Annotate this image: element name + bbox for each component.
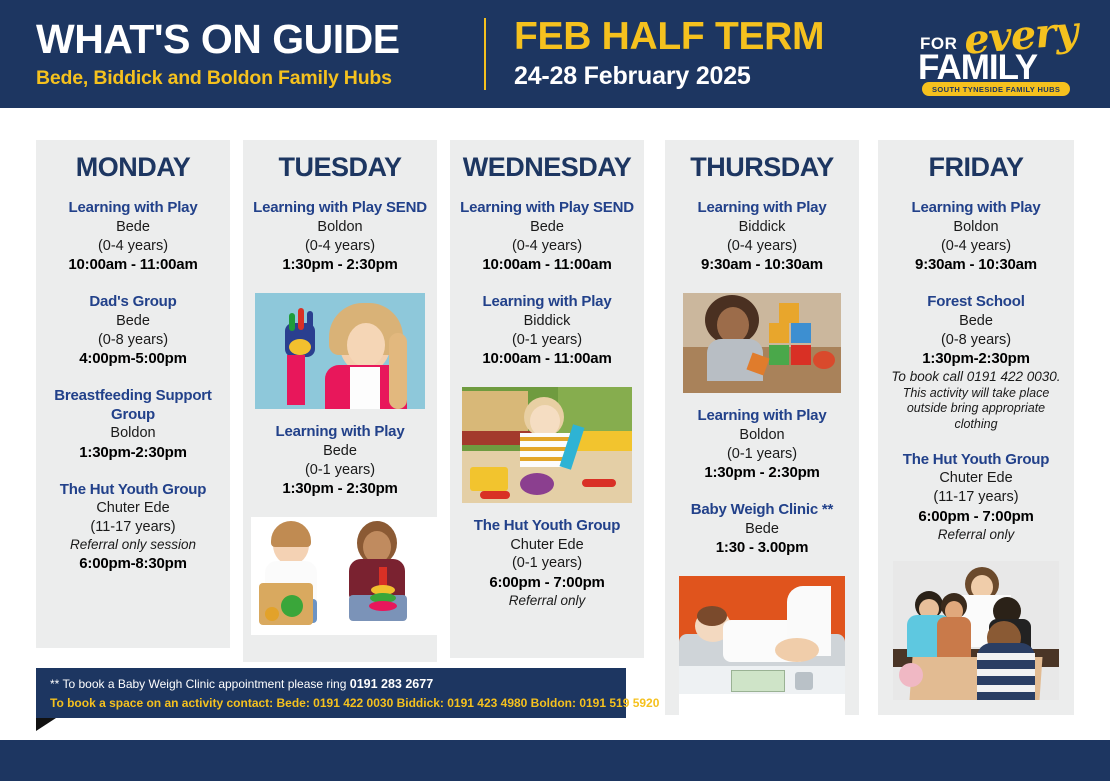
header-divider	[484, 18, 486, 90]
activity-name: Dad's Group	[44, 293, 222, 312]
activity-time: 1:30pm - 2:30pm	[251, 479, 429, 499]
term-title: FEB HALF TERM	[514, 17, 894, 58]
for-every-family-logo: FOR every FAMILY SOUTH TYNESIDE FAMILY H…	[918, 12, 1088, 98]
activity-name: Baby Weigh Clinic **	[673, 501, 851, 520]
baby-weigh-booking-text: ** To book a Baby Weigh Clinic appointme…	[50, 677, 350, 691]
activity-name: Learning with Play SEND	[251, 199, 429, 218]
photo-baby-scales	[679, 576, 845, 715]
day-column-thursday: THURSDAY Learning with Play Biddick (0-4…	[665, 140, 859, 715]
activity-name: Learning with Play	[458, 293, 636, 312]
activity-age: (0-4 years)	[458, 237, 636, 256]
day-title-monday: MONDAY	[44, 152, 222, 183]
activity-time: 9:30am - 10:30am	[886, 255, 1066, 275]
day-title-thursday: THURSDAY	[673, 152, 851, 183]
activity-time: 4:00pm-5:00pm	[44, 349, 222, 369]
photo-children-table-activity	[893, 561, 1059, 700]
footer-fold-decoration	[36, 718, 56, 731]
activity-venue: Biddick	[673, 218, 851, 237]
activity-name: Learning with Play SEND	[458, 199, 636, 218]
activity-time: 1:30pm - 2:30pm	[673, 463, 851, 483]
activity-item: Dad's Group Bede (0-8 years) 4:00pm-5:00…	[44, 293, 222, 369]
activity-time: 10:00am - 11:00am	[458, 349, 636, 369]
activity-age: (0-8 years)	[886, 331, 1066, 350]
page-bottom-bar	[0, 740, 1110, 781]
activity-age: (0-1 years)	[673, 445, 851, 464]
activity-age: (11-17 years)	[44, 518, 222, 537]
activity-age: (11-17 years)	[886, 488, 1066, 507]
activity-item: Baby Weigh Clinic ** Bede 1:30 - 3.00pm	[673, 501, 851, 558]
activity-age: (0-4 years)	[251, 237, 429, 256]
day-column-wednesday: WEDNESDAY Learning with Play SEND Bede (…	[450, 140, 644, 658]
activity-item: Learning with Play Boldon (0-1 years) 1:…	[673, 407, 851, 483]
activity-item: The Hut Youth Group Chuter Ede (11-17 ye…	[44, 481, 222, 574]
activity-venue: Bede	[44, 312, 222, 331]
activity-name: The Hut Youth Group	[886, 451, 1066, 470]
day-column-friday: FRIDAY Learning with Play Boldon (0-4 ye…	[878, 140, 1074, 715]
activity-note: Referral only	[458, 593, 636, 610]
activity-venue: Chuter Ede	[458, 536, 636, 555]
activity-item: Learning with Play Biddick (0-4 years) 9…	[673, 199, 851, 275]
day-title-wednesday: WEDNESDAY	[458, 152, 636, 183]
activity-name: Learning with Play	[44, 199, 222, 218]
logo-badge-text: SOUTH TYNESIDE FAMILY HUBS	[922, 82, 1070, 96]
activity-clothing-note: This activity will take place outside br…	[886, 386, 1066, 433]
activity-venue: Bede	[251, 442, 429, 461]
photo-toddler-sandpit	[462, 387, 632, 503]
activity-time: 1:30 - 3.00pm	[673, 538, 851, 558]
activity-venue: Boldon	[673, 426, 851, 445]
activity-venue: Boldon	[886, 218, 1066, 237]
activity-name: Learning with Play	[673, 407, 851, 426]
activity-note: Referral only session	[44, 537, 222, 554]
header-title-block: WHAT'S ON GUIDE Bede, Biddick and Boldon…	[0, 18, 478, 90]
activity-name: Learning with Play	[886, 199, 1066, 218]
activity-venue: Chuter Ede	[44, 499, 222, 518]
activity-item: Learning with Play SEND Bede (0-4 years)…	[458, 199, 636, 275]
activity-time: 6:00pm-8:30pm	[44, 554, 222, 574]
activity-name: The Hut Youth Group	[44, 481, 222, 500]
activity-time: 6:00pm - 7:00pm	[886, 507, 1066, 527]
header-term-block: FEB HALF TERM 24-28 February 2025	[514, 17, 894, 91]
booking-info-box: ** To book a Baby Weigh Clinic appointme…	[36, 668, 626, 718]
term-dates: 24-28 February 2025	[514, 62, 894, 91]
page-header: WHAT'S ON GUIDE Bede, Biddick and Boldon…	[0, 0, 1110, 108]
activity-venue: Boldon	[251, 218, 429, 237]
activity-item: Learning with Play Bede (0-1 years) 1:30…	[251, 423, 429, 499]
activity-item: Learning with Play SEND Boldon (0-4 year…	[251, 199, 429, 275]
baby-weigh-booking-line: ** To book a Baby Weigh Clinic appointme…	[50, 675, 626, 694]
activity-time: 1:30pm-2:30pm	[44, 443, 222, 463]
activity-time: 9:30am - 10:30am	[673, 255, 851, 275]
activity-venue: Bede	[458, 218, 636, 237]
activity-item: Learning with Play Biddick (0-1 years) 1…	[458, 293, 636, 369]
activity-name: Forest School	[886, 293, 1066, 312]
activity-time: 1:30pm - 2:30pm	[251, 255, 429, 275]
activity-item: Learning with Play Boldon (0-4 years) 9:…	[886, 199, 1066, 275]
page-subtitle: Bede, Biddick and Boldon Family Hubs	[36, 67, 478, 90]
activity-venue: Bede	[673, 520, 851, 539]
day-title-tuesday: TUESDAY	[251, 152, 429, 183]
activity-item: The Hut Youth Group Chuter Ede (11-17 ye…	[886, 451, 1066, 544]
page-title: WHAT'S ON GUIDE	[36, 18, 478, 61]
activity-name: Learning with Play	[251, 423, 429, 442]
activity-note: Referral only	[886, 527, 1066, 544]
activity-item: Forest School Bede (0-8 years) 1:30pm-2:…	[886, 293, 1066, 433]
activity-name: Breastfeeding Support Group	[44, 387, 222, 425]
activity-age: (0-4 years)	[673, 237, 851, 256]
photo-girl-painted-hand	[255, 293, 425, 409]
activity-age: (0-4 years)	[886, 237, 1066, 256]
activity-venue: Bede	[44, 218, 222, 237]
day-column-monday: MONDAY Learning with Play Bede (0-4 year…	[36, 140, 230, 648]
activity-item: Learning with Play Bede (0-4 years) 10:0…	[44, 199, 222, 275]
activity-time: 1:30pm-2:30pm	[886, 349, 1066, 369]
activity-venue: Bede	[886, 312, 1066, 331]
photo-child-blocks	[683, 293, 841, 393]
activity-item: The Hut Youth Group Chuter Ede (0-1 year…	[458, 517, 636, 610]
photo-two-toddlers-toys	[251, 517, 437, 635]
activity-name: Learning with Play	[673, 199, 851, 218]
activity-venue: Biddick	[458, 312, 636, 331]
activity-item: Breastfeeding Support Group Boldon 1:30p…	[44, 387, 222, 463]
day-title-friday: FRIDAY	[886, 152, 1066, 183]
baby-weigh-phone: 0191 283 2677	[350, 677, 433, 691]
activity-contacts-line: To book a space on an activity contact: …	[50, 694, 626, 712]
activity-venue: Boldon	[44, 424, 222, 443]
activity-age: (0-4 years)	[44, 237, 222, 256]
activity-age: (0-1 years)	[458, 554, 636, 573]
activity-age: (0-1 years)	[458, 331, 636, 350]
activity-booking-note: To book call 0191 422 0030.	[886, 369, 1066, 386]
activity-venue: Chuter Ede	[886, 469, 1066, 488]
day-column-tuesday: TUESDAY Learning with Play SEND Boldon (…	[243, 140, 437, 662]
activity-name: The Hut Youth Group	[458, 517, 636, 536]
activity-time: 10:00am - 11:00am	[458, 255, 636, 275]
activity-age: (0-1 years)	[251, 461, 429, 480]
activity-time: 6:00pm - 7:00pm	[458, 573, 636, 593]
activity-time: 10:00am - 11:00am	[44, 255, 222, 275]
activity-age: (0-8 years)	[44, 331, 222, 350]
